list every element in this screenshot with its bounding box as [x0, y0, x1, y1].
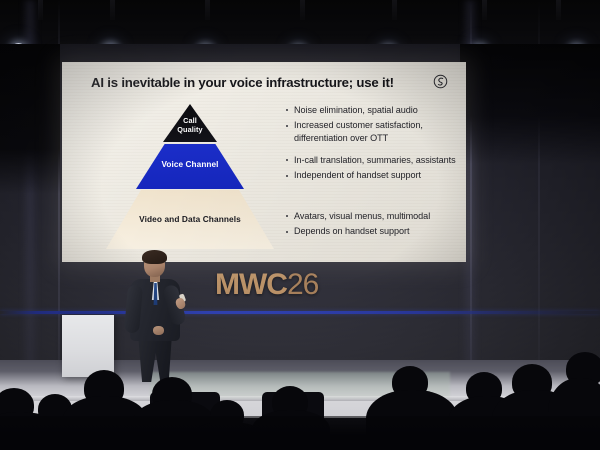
light-rig — [556, 0, 561, 20]
speaker-legs — [136, 338, 174, 382]
light-rig — [392, 0, 397, 20]
podium — [62, 315, 114, 377]
light-rig — [205, 0, 210, 20]
speaker-hair — [142, 250, 167, 264]
light-rig — [300, 0, 305, 20]
conference-photo-scene: MWC26 AI is inevitable in your voice inf… — [0, 0, 600, 450]
light-rig — [110, 0, 115, 20]
speaker-left-hand — [153, 326, 164, 335]
speaker-presenter — [120, 252, 194, 380]
foreground-shadow — [0, 416, 600, 450]
light-rig — [38, 0, 43, 20]
light-rig — [482, 0, 487, 20]
